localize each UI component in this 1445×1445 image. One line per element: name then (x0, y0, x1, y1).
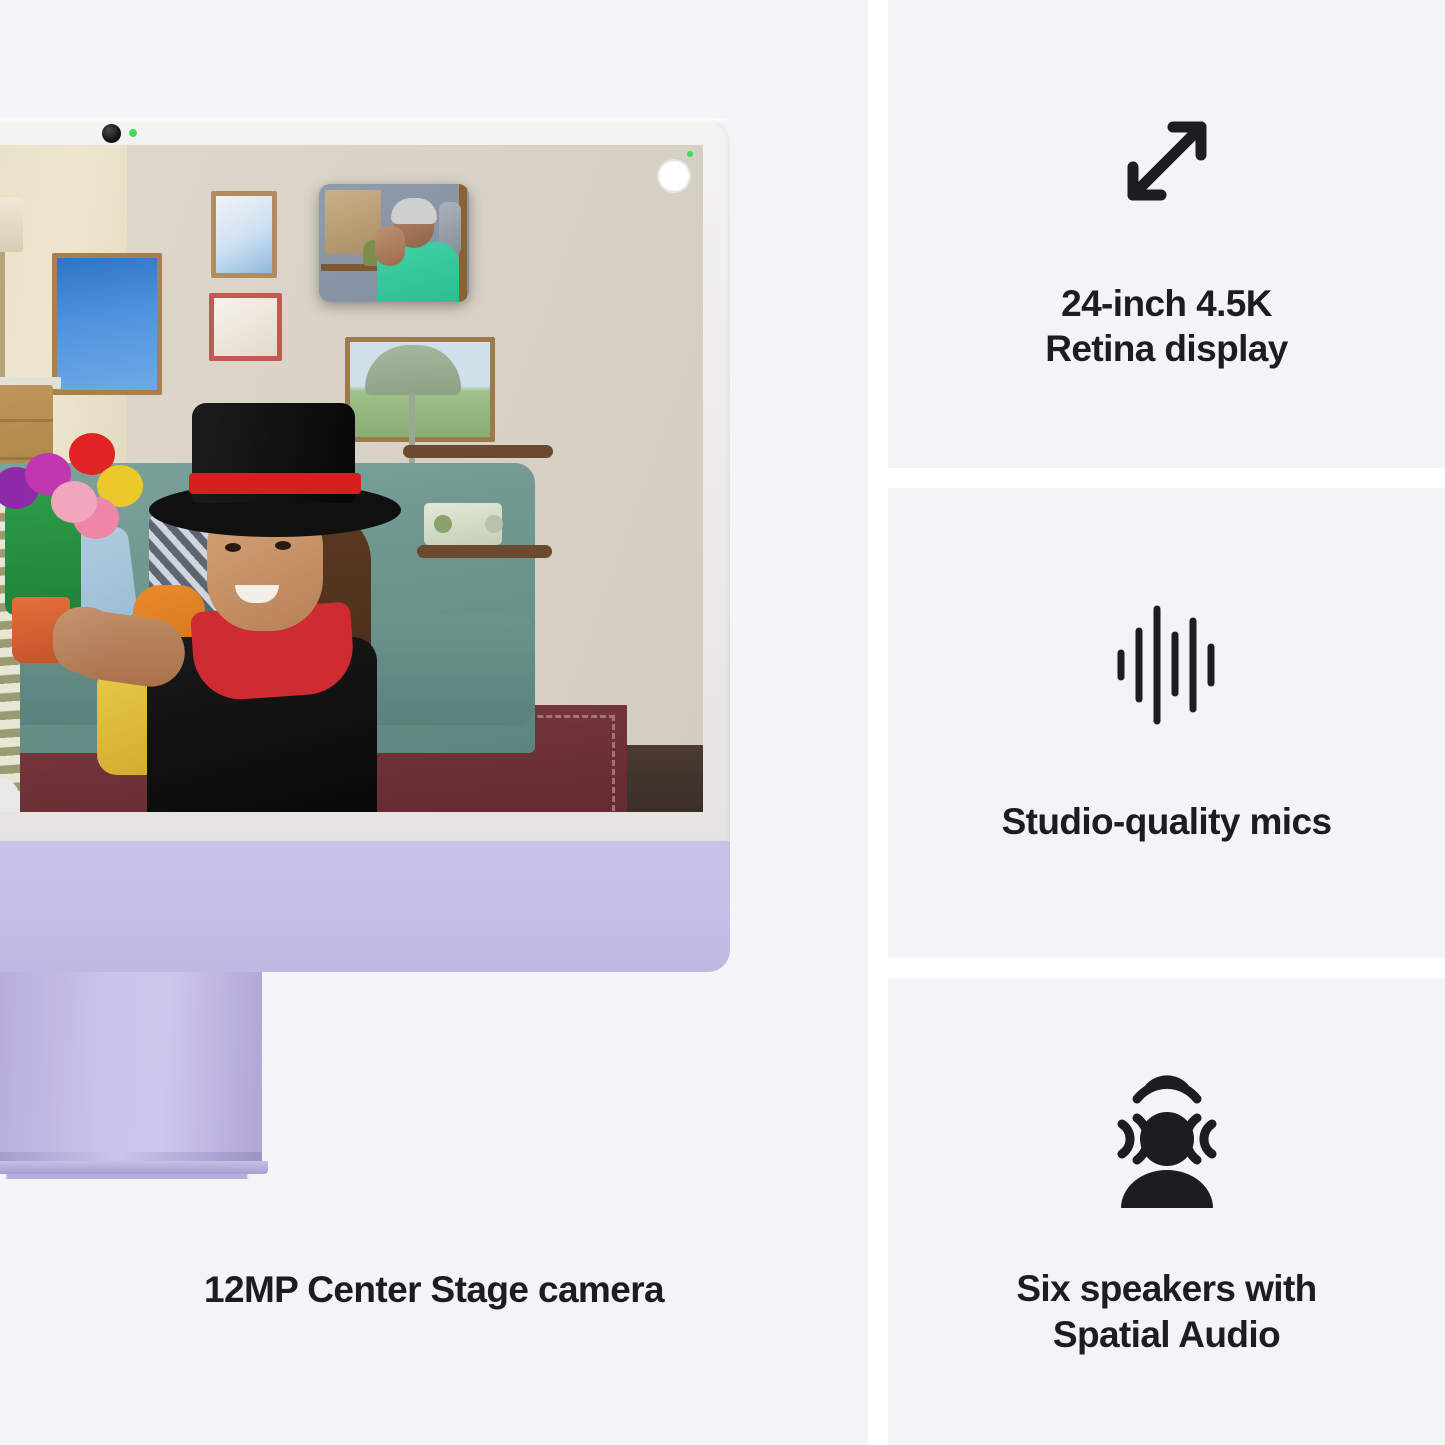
imac-stand-base (0, 1161, 268, 1174)
resize-diagonal-arrows-icon (1103, 97, 1231, 225)
imac-stand-lip (0, 1152, 262, 1161)
camera-feature-panel: 12MP Center Stage camera (0, 0, 868, 1445)
camera-feature-caption: 12MP Center Stage camera (0, 1268, 868, 1312)
girl-hand (53, 607, 115, 673)
pip-person-hair (391, 198, 437, 224)
screen-status-led-icon (687, 151, 693, 157)
spatial-audio-person-icon (1097, 1066, 1237, 1214)
mics-feature-panel: Studio-quality mics (888, 488, 1445, 958)
camera-dot-icon (102, 124, 121, 143)
display-caption-line2: Retina display (1045, 326, 1287, 371)
speakers-caption-line2: Spatial Audio (1016, 1312, 1316, 1357)
imac-device (0, 118, 730, 1168)
girl-eye-left (225, 543, 241, 552)
side-table-upper (403, 445, 553, 458)
camera-status-led-icon (129, 129, 137, 137)
facetime-pip-window[interactable] (319, 184, 469, 302)
speakers-feature-panel: Six speakers with Spatial Audio (888, 978, 1445, 1445)
audio-waveform-icon (1111, 601, 1223, 729)
flower-light-pink (51, 481, 97, 523)
radio-knob (485, 515, 503, 533)
mics-feature-caption: Studio-quality mics (1002, 799, 1332, 844)
radio-dial (434, 515, 452, 533)
side-table-lower (417, 545, 552, 558)
display-feature-caption: 24-inch 4.5K Retina display (1045, 281, 1287, 371)
facetime-circle-button[interactable] (659, 161, 689, 191)
wall-frame-blue-art (52, 253, 162, 395)
mics-caption-line1: Studio-quality mics (1002, 799, 1332, 844)
speakers-feature-caption: Six speakers with Spatial Audio (1016, 1266, 1316, 1356)
girl-eye-right (275, 541, 291, 550)
display-feature-panel: 24-inch 4.5K Retina display (888, 0, 1445, 468)
imac-chin (0, 841, 730, 972)
imac-stand-foot (0, 1174, 268, 1179)
wall-frame-print (211, 191, 277, 278)
pip-person-hand (375, 226, 405, 266)
imac-bezel (0, 118, 730, 841)
wall-frame-red (209, 293, 282, 361)
imac-screen (0, 145, 703, 812)
floor-lamp-shade (0, 197, 23, 252)
product-feature-grid: 12MP Center Stage camera 24-inch 4.5K Re… (0, 0, 1445, 1445)
imac-stand (0, 972, 262, 1172)
display-caption-line1: 24-inch 4.5K (1045, 281, 1287, 326)
facetime-video-scene (0, 145, 703, 812)
speakers-caption-line1: Six speakers with (1016, 1266, 1316, 1311)
girl-top-hat-red-band (189, 473, 361, 494)
